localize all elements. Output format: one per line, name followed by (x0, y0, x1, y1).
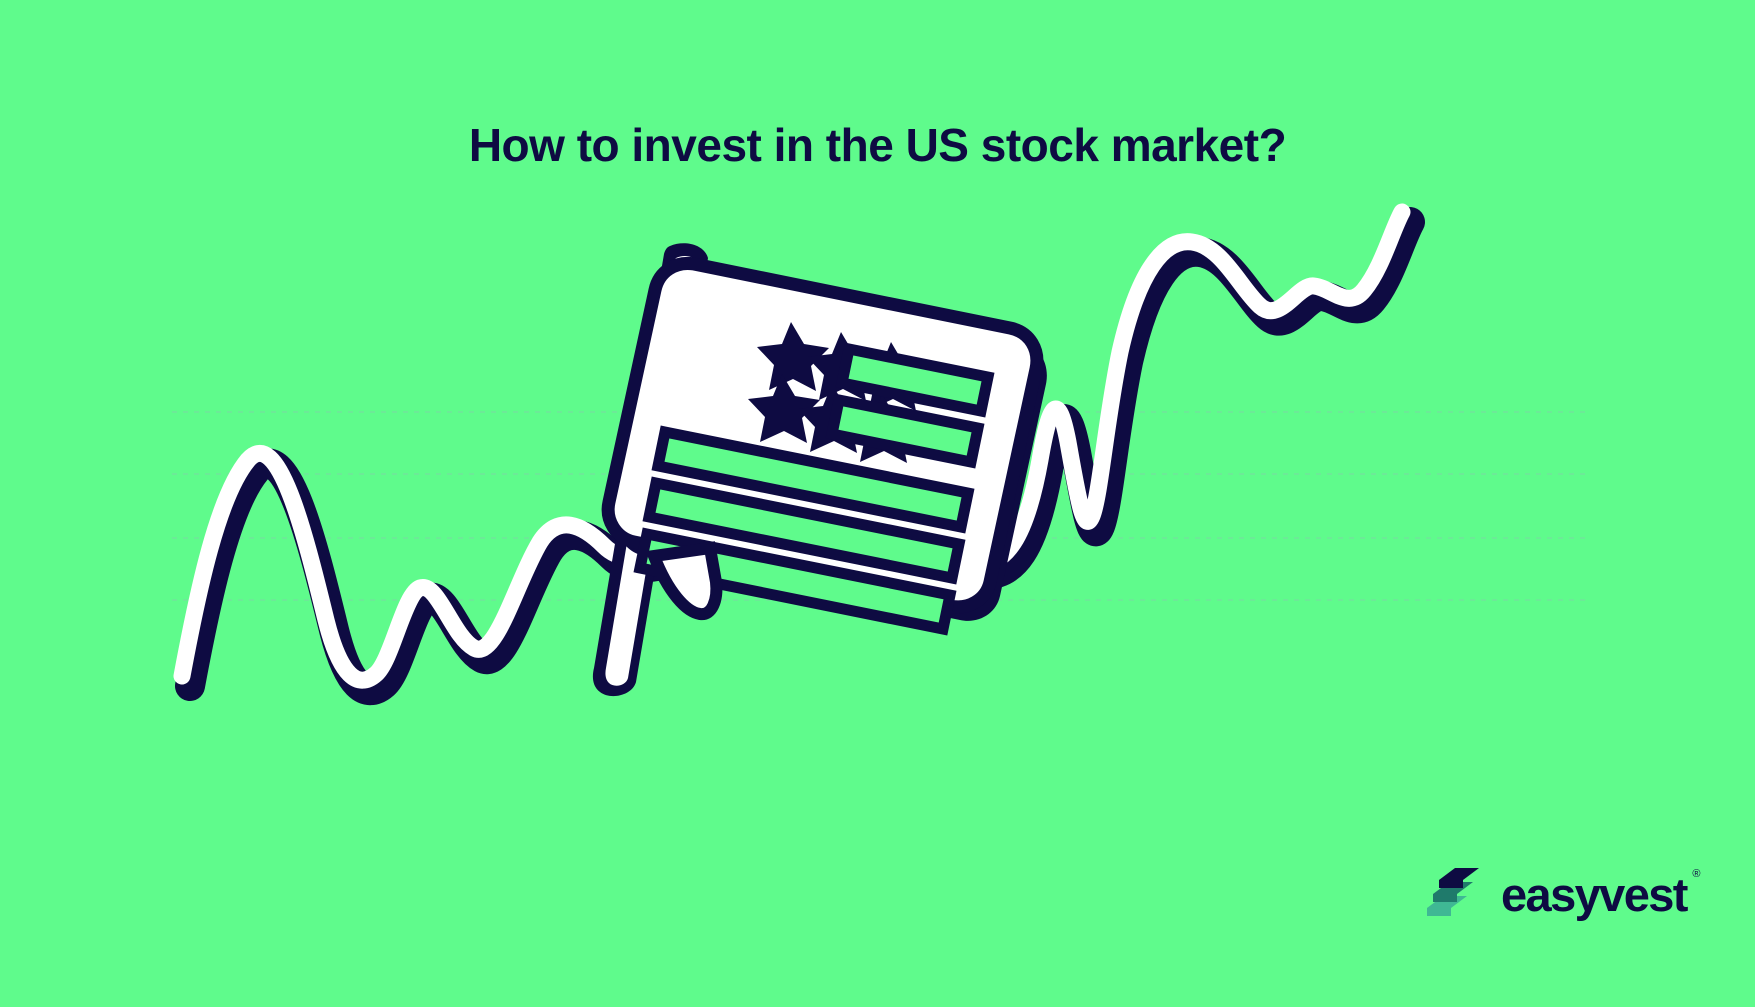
easyvest-wordmark: easyvest ® (1501, 871, 1687, 918)
flag-fold (654, 548, 716, 614)
easyvest-logo-mark (1425, 868, 1487, 920)
logo-bar-top-fold (1439, 880, 1463, 888)
us-flag (593, 243, 1047, 696)
poster-canvas: How to invest in the US stock market? (0, 0, 1755, 1007)
illustration-us-flag-chart (0, 0, 1755, 1007)
wordmark-text: easyvest (1501, 868, 1687, 921)
flag-fold-shape (654, 548, 716, 614)
registered-trademark-icon: ® (1692, 869, 1699, 880)
brand-logo[interactable]: easyvest ® (1425, 862, 1675, 926)
logo-bar-top (1439, 868, 1479, 880)
logo-bar-middle-fold (1433, 894, 1457, 902)
logo-bar-bottom-fold (1427, 908, 1451, 916)
